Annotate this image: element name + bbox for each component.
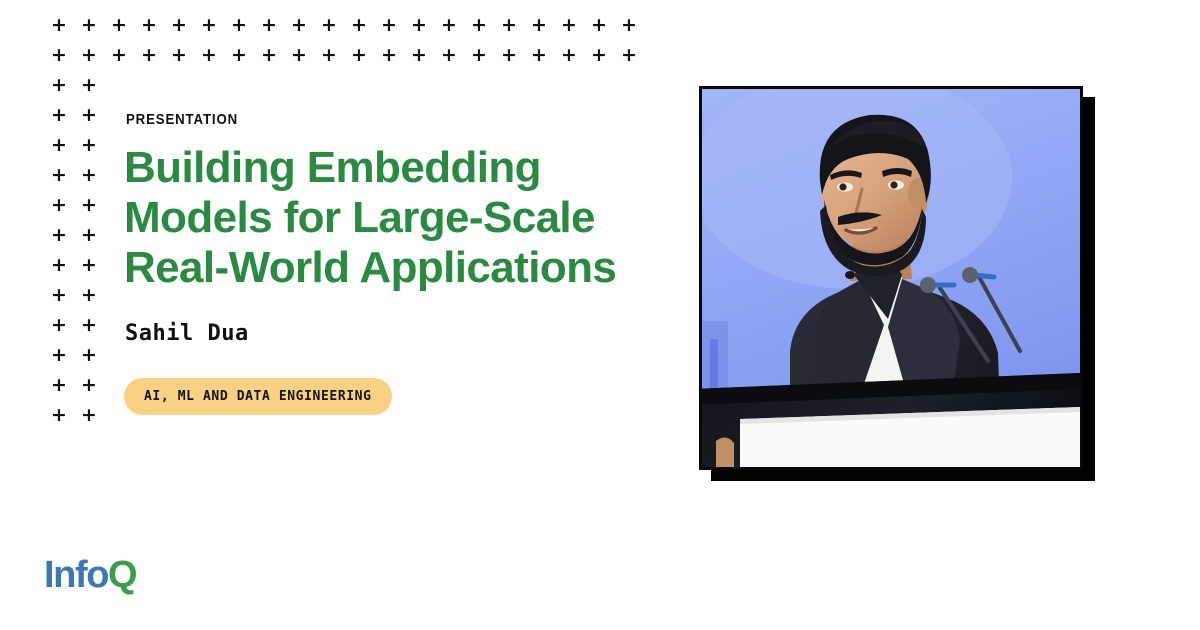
plus-icon: + xyxy=(284,10,314,40)
plus-icon: + xyxy=(494,40,524,70)
plus-icon: + xyxy=(104,40,134,70)
presentation-content: PRESENTATION Building Embedding Models f… xyxy=(124,112,664,415)
plus-icon: + xyxy=(464,10,494,40)
plus-icon: + xyxy=(524,40,554,70)
plus-pattern-row: ++++++++++++++++++++ xyxy=(44,10,644,40)
plus-icon: + xyxy=(74,280,104,310)
plus-icon: + xyxy=(44,220,74,250)
plus-icon: + xyxy=(74,160,104,190)
plus-icon: + xyxy=(74,10,104,40)
plus-icon: + xyxy=(44,70,74,100)
plus-pattern-row: ++++++++++++++++++++ xyxy=(44,40,644,70)
plus-icon: + xyxy=(584,10,614,40)
plus-icon: + xyxy=(374,10,404,40)
plus-icon: + xyxy=(44,40,74,70)
plus-icon: + xyxy=(74,40,104,70)
logo-text-q: Q xyxy=(108,554,136,596)
speaker-photo-illustration xyxy=(702,89,1080,467)
plus-icon: + xyxy=(44,130,74,160)
plus-icon: + xyxy=(44,10,74,40)
infoq-logo[interactable]: InfoQ xyxy=(44,556,136,594)
page-title: Building Embedding Models for Large-Scal… xyxy=(124,143,644,293)
content-type-label: PRESENTATION xyxy=(126,112,599,127)
plus-icon: + xyxy=(44,160,74,190)
plus-icon: + xyxy=(104,10,134,40)
plus-icon: + xyxy=(74,220,104,250)
plus-icon: + xyxy=(344,10,374,40)
binary-decoration-strip: 01100110 01101111 01100011 01101001 0100… xyxy=(1166,0,1200,510)
plus-icon: + xyxy=(74,370,104,400)
plus-icon: + xyxy=(44,100,74,130)
speaker-photo-container xyxy=(699,86,1083,470)
plus-icon: + xyxy=(284,40,314,70)
plus-icon: + xyxy=(224,40,254,70)
plus-icon: + xyxy=(44,250,74,280)
plus-icon: + xyxy=(74,250,104,280)
plus-icon: + xyxy=(74,190,104,220)
plus-icon: + xyxy=(344,40,374,70)
plus-icon: + xyxy=(164,40,194,70)
plus-icon: + xyxy=(224,10,254,40)
plus-icon: + xyxy=(524,10,554,40)
plus-icon: + xyxy=(494,10,524,40)
plus-icon: + xyxy=(74,100,104,130)
plus-icon: + xyxy=(464,40,494,70)
plus-icon: + xyxy=(44,370,74,400)
plus-icon: + xyxy=(194,40,224,70)
plus-icon: + xyxy=(584,40,614,70)
plus-icon: + xyxy=(74,340,104,370)
plus-icon: + xyxy=(44,190,74,220)
plus-icon: + xyxy=(614,40,644,70)
plus-icon: + xyxy=(74,400,104,430)
plus-icon: + xyxy=(44,400,74,430)
plus-pattern-row: ++ xyxy=(44,70,644,100)
plus-icon: + xyxy=(74,130,104,160)
plus-icon: + xyxy=(164,10,194,40)
plus-icon: + xyxy=(44,310,74,340)
plus-icon: + xyxy=(314,40,344,70)
plus-icon: + xyxy=(404,40,434,70)
logo-text-info: Info xyxy=(44,554,108,596)
plus-icon: + xyxy=(194,10,224,40)
plus-icon: + xyxy=(404,10,434,40)
plus-icon: + xyxy=(134,40,164,70)
plus-icon: + xyxy=(434,10,464,40)
plus-icon: + xyxy=(314,10,344,40)
plus-icon: + xyxy=(44,280,74,310)
plus-icon: + xyxy=(614,10,644,40)
plus-icon: + xyxy=(254,40,284,70)
plus-icon: + xyxy=(554,10,584,40)
speaker-name: Sahil Dua xyxy=(125,323,664,345)
speaker-photo xyxy=(699,86,1083,470)
plus-icon: + xyxy=(44,340,74,370)
topic-badge[interactable]: AI, ML AND DATA ENGINEERING xyxy=(124,378,392,415)
plus-icon: + xyxy=(134,10,164,40)
plus-icon: + xyxy=(374,40,404,70)
plus-icon: + xyxy=(554,40,584,70)
plus-icon: + xyxy=(74,310,104,340)
plus-icon: + xyxy=(254,10,284,40)
plus-icon: + xyxy=(74,70,104,100)
plus-icon: + xyxy=(434,40,464,70)
